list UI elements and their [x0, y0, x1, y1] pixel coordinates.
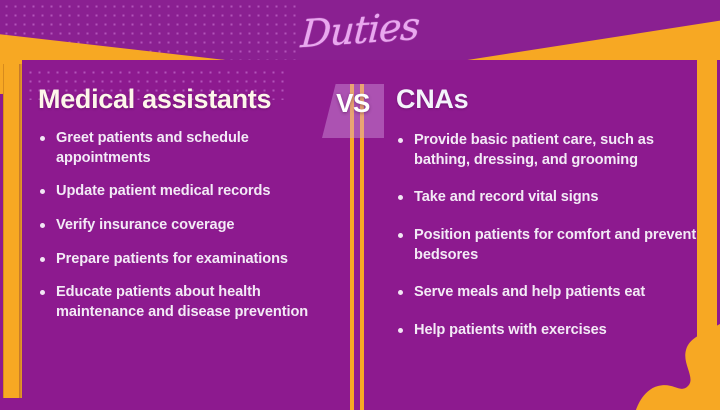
list-item: Update patient medical records [38, 182, 338, 202]
column-heading-cnas: CNAs [396, 86, 698, 113]
duty-list-cnas: Provide basic patient care, such as bath… [396, 131, 698, 341]
yellow-bar-right [697, 56, 717, 410]
list-item: Help patients with exercises [396, 321, 698, 341]
yellow-bar-left-shadow [19, 64, 23, 398]
duties-comparison-infographic: Duties VS Medical assistants Greet patie… [0, 0, 720, 410]
list-item: Greet patients and schedule appointments [38, 129, 338, 168]
list-item: Provide basic patient care, such as bath… [396, 131, 698, 170]
list-item: Educate patients about health maintenanc… [38, 283, 338, 322]
column-medical-assistants: Medical assistants Greet patients and sc… [38, 86, 338, 337]
list-item: Prepare patients for examinations [38, 250, 338, 270]
duty-list-medical-assistants: Greet patients and schedule appointments… [38, 129, 338, 323]
list-item: Verify insurance coverage [38, 216, 338, 236]
list-item: Position patients for comfort and preven… [396, 226, 698, 265]
list-item: Take and record vital signs [396, 188, 698, 208]
column-heading-medical-assistants: Medical assistants [38, 86, 338, 113]
script-heading: Duties [295, 3, 426, 56]
column-cnas: CNAs Provide basic patient care, such as… [396, 86, 698, 359]
list-item: Serve meals and help patients eat [396, 283, 698, 303]
